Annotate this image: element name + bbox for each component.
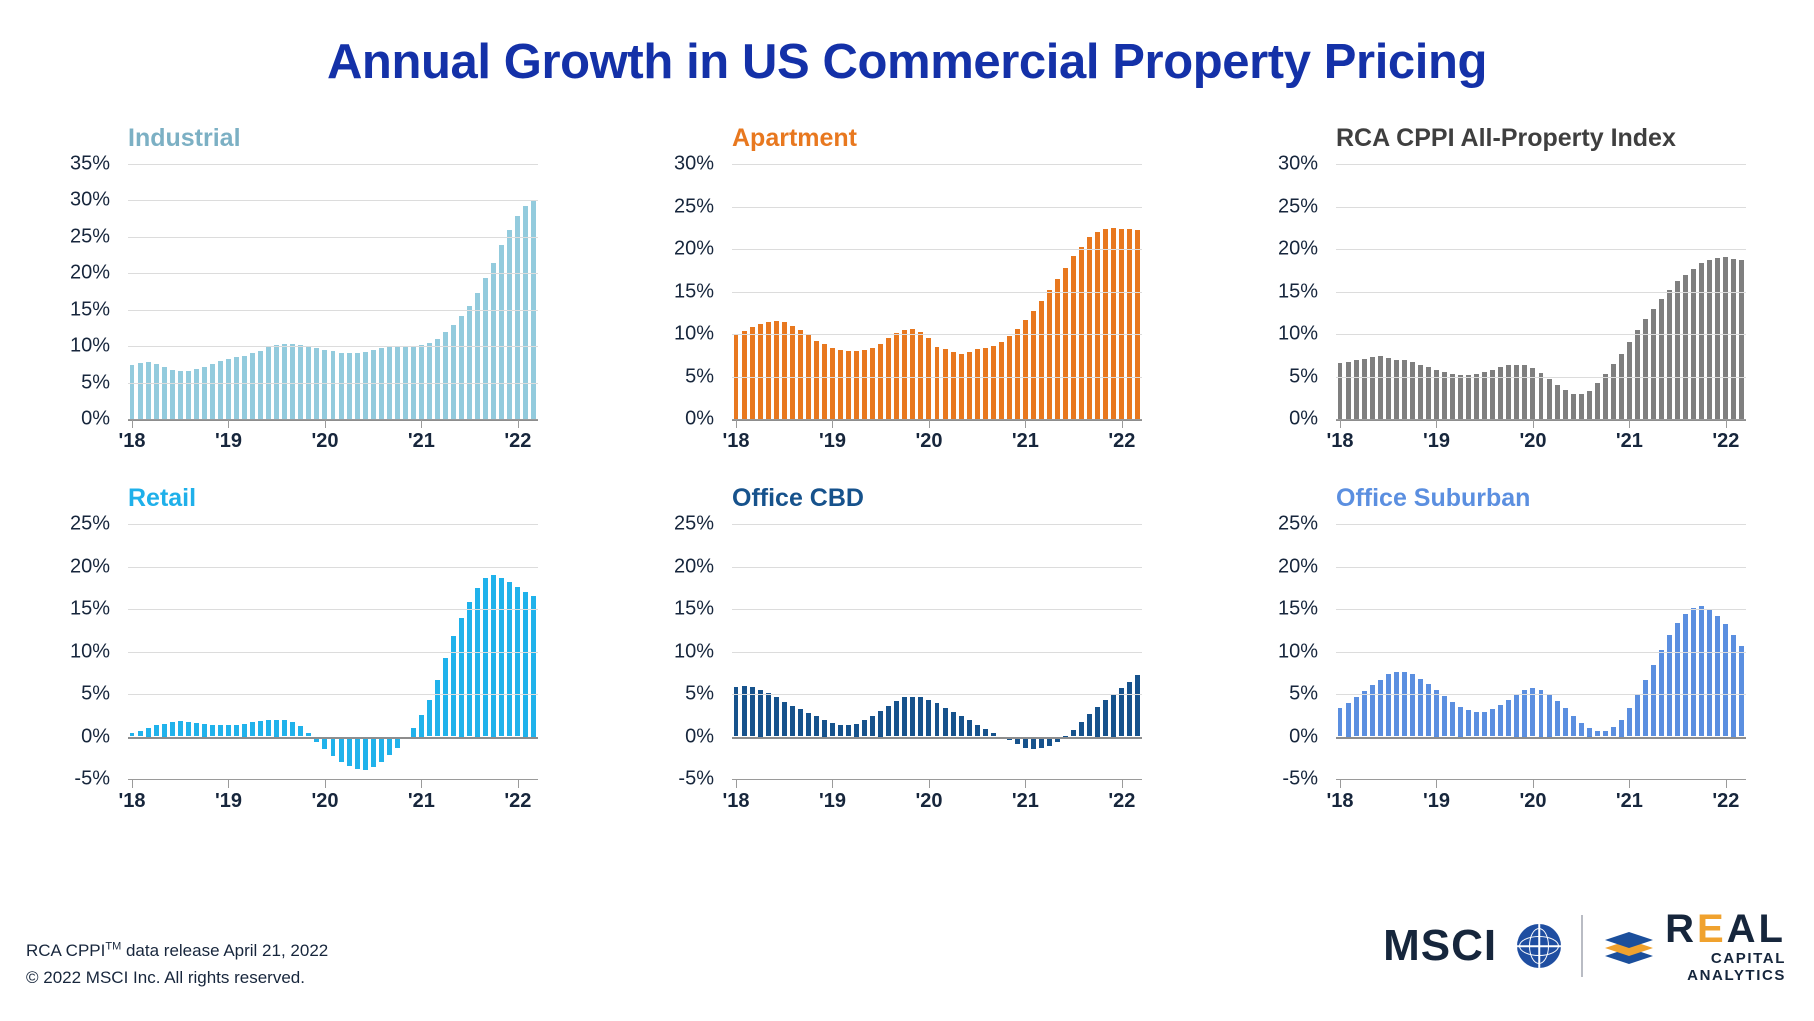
bar <box>926 700 931 737</box>
bar <box>758 324 763 419</box>
bar <box>910 697 915 737</box>
bar <box>355 737 360 769</box>
bar <box>1063 268 1068 419</box>
bar <box>1715 258 1720 420</box>
bar <box>1675 281 1680 419</box>
bar <box>218 361 223 419</box>
bar <box>975 349 980 419</box>
bar <box>298 726 303 736</box>
y-axis-office-cbd: -5%0%5%10%15%20%25% <box>604 524 724 779</box>
bar <box>1603 374 1608 419</box>
bar <box>991 346 996 419</box>
bar <box>387 737 392 756</box>
bar <box>1346 703 1351 737</box>
x-axis-rca-cppi: '18'19'20'21'22 <box>1336 419 1746 453</box>
bar <box>806 713 811 737</box>
y-tick-label: -5% <box>1282 768 1318 791</box>
bar <box>1418 365 1423 419</box>
bar <box>1667 635 1672 736</box>
bar <box>507 230 512 419</box>
bar <box>258 351 263 419</box>
bar <box>491 263 496 419</box>
page-title: Annual Growth in US Commercial Property … <box>0 0 1814 87</box>
x-tick <box>1025 779 1026 788</box>
x-tick-label: '19 <box>215 790 242 813</box>
bar <box>138 363 143 419</box>
bar <box>1103 700 1108 737</box>
bar <box>935 347 940 419</box>
x-tick-label: '18 <box>119 790 146 813</box>
x-axis-line <box>732 419 1142 420</box>
y-tick-label: 15% <box>1278 598 1318 621</box>
bar <box>1354 360 1359 419</box>
bar <box>1739 646 1744 736</box>
bar <box>1394 672 1399 737</box>
gridline-office-suburban-15 <box>1336 609 1746 610</box>
bar <box>427 700 432 737</box>
x-tick-label: '20 <box>311 790 338 813</box>
y-tick-label: 20% <box>70 262 110 285</box>
bar <box>250 353 255 419</box>
x-tick-label: '22 <box>504 790 531 813</box>
x-tick-label: '18 <box>723 430 750 453</box>
bar <box>523 592 528 737</box>
bar <box>1426 684 1431 737</box>
x-tick-label: '22 <box>1108 430 1135 453</box>
bar <box>1651 665 1656 736</box>
footer-line-1-pre: RCA CPPI <box>26 941 105 960</box>
bar <box>1522 690 1527 737</box>
gridline-rca-cppi-all-property-index-25 <box>1336 207 1746 208</box>
y-tick-label: 0% <box>685 408 714 431</box>
chart-panel-office-cbd: Office CBD -5%0%5%10%15%20%25% '18'19'20… <box>604 480 1208 840</box>
y-tick-label: 35% <box>70 153 110 176</box>
bar <box>1111 228 1116 419</box>
bar <box>322 350 327 419</box>
x-tick-label: '22 <box>1712 430 1739 453</box>
bar <box>1635 330 1640 419</box>
gridline-office-cbd-0 <box>732 737 1142 739</box>
x-tick-label: '19 <box>1423 790 1450 813</box>
plot-area-office-cbd <box>732 524 1142 779</box>
bar <box>146 362 151 419</box>
x-tick <box>421 779 422 788</box>
bar <box>1378 680 1383 737</box>
x-axis-line <box>128 779 538 780</box>
bar <box>1103 229 1108 419</box>
y-tick-label: 15% <box>674 598 714 621</box>
bar <box>242 356 247 419</box>
bar <box>1555 385 1560 419</box>
y-tick-label: 20% <box>70 555 110 578</box>
bar <box>1683 614 1688 736</box>
y-tick-label: 25% <box>70 225 110 248</box>
bar <box>443 658 448 736</box>
gridline-retail-25 <box>128 524 538 525</box>
charts-row-top: Industrial 0%5%10%15%20%25%30%35% '18'19… <box>0 120 1814 480</box>
y-tick-label: -5% <box>678 768 714 791</box>
x-tick-label: '21 <box>408 790 435 813</box>
bar <box>210 725 215 737</box>
bar <box>766 322 771 419</box>
gridline-office-cbd-5 <box>732 694 1142 695</box>
bar <box>967 720 972 736</box>
bar <box>814 341 819 419</box>
x-tick <box>1533 779 1534 788</box>
bar <box>234 725 239 737</box>
x-tick-label: '21 <box>1012 790 1039 813</box>
bar <box>1378 356 1383 419</box>
bar <box>1410 362 1415 419</box>
bar <box>467 306 472 419</box>
bar <box>1055 279 1060 419</box>
y-tick-label: 20% <box>674 238 714 261</box>
bar <box>250 722 255 736</box>
gridline-industrial-25 <box>128 237 538 238</box>
bar <box>515 216 520 419</box>
bar <box>1498 705 1503 736</box>
bar <box>194 369 199 419</box>
rca-logo: REAL CAPITAL ANALYTICS <box>1603 909 1786 983</box>
x-tick <box>929 419 930 428</box>
bar <box>1563 390 1568 419</box>
rca-real-text: REAL <box>1665 909 1786 949</box>
bar <box>1386 674 1391 736</box>
x-tick-label: '22 <box>1108 790 1135 813</box>
bar <box>178 371 183 419</box>
bar <box>282 720 287 736</box>
bar <box>790 326 795 420</box>
bar <box>1119 229 1124 419</box>
bar <box>1031 311 1036 419</box>
bar <box>459 618 464 737</box>
bar <box>507 582 512 737</box>
x-tick-label: '19 <box>819 430 846 453</box>
bar <box>234 357 239 419</box>
x-axis-apartment: '18'19'20'21'22 <box>732 419 1142 453</box>
chart-panel-rca-cppi-all-property-index: RCA CPPI All-Property Index 0%5%10%15%20… <box>1208 120 1812 480</box>
x-tick-label: '22 <box>1712 790 1739 813</box>
bar <box>926 338 931 419</box>
bar <box>154 364 159 419</box>
bar <box>830 723 835 737</box>
gridline-office-cbd-20 <box>732 567 1142 568</box>
bar <box>531 596 536 736</box>
chart-title-apartment: Apartment <box>732 124 857 153</box>
bar <box>1514 694 1519 737</box>
x-axis-line <box>732 779 1142 780</box>
y-tick-label: 20% <box>674 555 714 578</box>
bar <box>1071 730 1076 737</box>
y-axis-industrial: 0%5%10%15%20%25%30%35% <box>0 164 120 419</box>
bar <box>1402 360 1407 419</box>
bar <box>1338 363 1343 419</box>
y-tick-label: 5% <box>81 371 110 394</box>
bar <box>878 711 883 737</box>
y-tick-label: 0% <box>1289 408 1318 431</box>
x-tick-label: '20 <box>1519 430 1546 453</box>
gridline-industrial-15 <box>128 310 538 311</box>
x-tick <box>832 779 833 788</box>
x-tick-label: '19 <box>1423 430 1450 453</box>
bar <box>1619 720 1624 737</box>
bar <box>910 329 915 419</box>
bar <box>862 350 867 419</box>
bar <box>983 348 988 419</box>
bar <box>1675 623 1680 736</box>
bar <box>226 359 231 419</box>
bar <box>242 724 247 737</box>
bar <box>1571 716 1576 736</box>
y-tick-label: 15% <box>70 598 110 621</box>
bar <box>1370 357 1375 419</box>
chart-panel-apartment: Apartment 0%5%10%15%20%25%30% '18'19'20'… <box>604 120 1208 480</box>
bar <box>846 725 851 736</box>
bar <box>902 697 907 736</box>
x-tick-label: '20 <box>1519 790 1546 813</box>
bar <box>1683 275 1688 420</box>
bar <box>766 693 771 736</box>
bar <box>935 703 940 736</box>
chart-panel-industrial: Industrial 0%5%10%15%20%25%30%35% '18'19… <box>0 120 604 480</box>
x-tick <box>1726 779 1727 788</box>
y-axis-office-suburban: -5%0%5%10%15%20%25% <box>1208 524 1328 779</box>
bar <box>1739 260 1744 419</box>
bar <box>1619 354 1624 419</box>
bar <box>902 330 907 419</box>
bar <box>798 330 803 419</box>
bar <box>1651 309 1656 420</box>
bar <box>814 716 819 736</box>
bar <box>1691 608 1696 736</box>
x-tick-label: '22 <box>504 430 531 453</box>
y-tick-label: 30% <box>674 153 714 176</box>
bar <box>186 722 191 736</box>
bar <box>878 344 883 419</box>
bar <box>1087 714 1092 736</box>
bar <box>1699 606 1704 736</box>
globe-ring-icon <box>1529 928 1549 964</box>
bar <box>1095 232 1100 419</box>
bar <box>154 725 159 736</box>
bar <box>1127 229 1132 419</box>
bar <box>379 348 384 419</box>
x-tick-label: '20 <box>311 430 338 453</box>
bar <box>870 716 875 736</box>
bar <box>758 690 763 737</box>
x-tick <box>518 779 519 788</box>
bar <box>1587 728 1592 737</box>
bar <box>1127 682 1132 736</box>
bar <box>282 344 287 419</box>
book-icon <box>1603 926 1655 966</box>
x-tick-label: '21 <box>408 430 435 453</box>
bar <box>1474 374 1479 419</box>
bar <box>1338 708 1343 737</box>
bar <box>951 712 956 737</box>
bar <box>782 702 787 737</box>
gridline-rca-cppi-all-property-index-30 <box>1336 164 1746 165</box>
bar <box>178 721 183 736</box>
bar <box>331 351 336 419</box>
y-axis-rca-cppi: 0%5%10%15%20%25%30% <box>1208 164 1328 419</box>
bar <box>774 697 779 736</box>
bar <box>1579 394 1584 419</box>
x-tick-label: '19 <box>215 430 242 453</box>
logo-divider <box>1581 915 1583 977</box>
bar <box>1354 697 1359 737</box>
bar <box>467 602 472 736</box>
bar <box>1731 259 1736 419</box>
y-tick-label: 10% <box>1278 640 1318 663</box>
bar <box>290 344 295 419</box>
x-tick <box>1629 419 1630 428</box>
bar <box>1659 299 1664 419</box>
x-tick-label: '18 <box>723 790 750 813</box>
bar <box>1015 329 1020 419</box>
bar <box>1095 707 1100 737</box>
bar <box>1087 237 1092 419</box>
bar <box>210 364 215 419</box>
bar <box>1522 365 1527 419</box>
gridline-retail-15 <box>128 609 538 610</box>
bar <box>1490 709 1495 736</box>
bar <box>1707 260 1712 419</box>
gridline-retail-10 <box>128 652 538 653</box>
bar <box>266 720 271 736</box>
x-tick-label: '18 <box>119 430 146 453</box>
bar <box>475 293 480 419</box>
gridline-office-cbd-15 <box>732 609 1142 610</box>
bar <box>1547 694 1552 737</box>
chart-title-retail: Retail <box>128 484 196 513</box>
bar <box>1579 723 1584 737</box>
y-tick-label: 15% <box>70 298 110 321</box>
bar <box>1563 708 1568 736</box>
bar <box>371 737 376 768</box>
gridline-apartment-5 <box>732 377 1142 378</box>
gridline-apartment-10 <box>732 334 1142 335</box>
bar <box>1506 700 1511 737</box>
y-tick-label: -5% <box>74 768 110 791</box>
footer-note: RCA CPPITM data release April 21, 2022 ©… <box>26 938 328 991</box>
y-axis-retail: -5%0%5%10%15%20%25% <box>0 524 120 779</box>
y-tick-label: 10% <box>674 640 714 663</box>
bar <box>1530 688 1535 736</box>
gridline-industrial-5 <box>128 383 538 384</box>
x-tick <box>1340 779 1341 788</box>
bar <box>1450 374 1455 419</box>
x-tick <box>1122 779 1123 788</box>
x-tick <box>421 419 422 428</box>
bar <box>1506 365 1511 419</box>
y-tick-label: 25% <box>1278 513 1318 536</box>
bar <box>1474 712 1479 737</box>
x-tick <box>132 419 133 428</box>
bar <box>314 348 319 419</box>
bar <box>355 353 360 419</box>
bar <box>1458 707 1463 737</box>
bar <box>419 715 424 736</box>
bar <box>1442 696 1447 737</box>
x-tick-label: '19 <box>819 790 846 813</box>
y-tick-label: 5% <box>81 683 110 706</box>
msci-wordmark: MSCI <box>1383 921 1497 971</box>
y-tick-label: 25% <box>1278 195 1318 218</box>
bar <box>1111 694 1116 737</box>
gridline-rca-cppi-all-property-index-20 <box>1336 249 1746 250</box>
bar <box>830 348 835 419</box>
bar <box>1023 320 1028 419</box>
x-tick <box>1436 419 1437 428</box>
bar <box>959 716 964 736</box>
x-tick-label: '18 <box>1327 790 1354 813</box>
y-tick-label: 10% <box>1278 323 1318 346</box>
bar <box>459 316 464 419</box>
bar <box>846 351 851 419</box>
bar <box>1482 712 1487 737</box>
y-tick-label: 25% <box>70 513 110 536</box>
bar <box>742 331 747 419</box>
x-tick-label: '20 <box>915 790 942 813</box>
bar <box>1047 290 1052 419</box>
bar <box>339 353 344 419</box>
bar <box>347 353 352 419</box>
y-axis-apartment: 0%5%10%15%20%25%30% <box>604 164 724 419</box>
bar <box>854 724 859 737</box>
bar <box>943 708 948 737</box>
bar <box>499 578 504 737</box>
bar <box>363 352 368 419</box>
gridline-apartment-30 <box>732 164 1142 165</box>
bar <box>854 351 859 419</box>
bar <box>918 697 923 736</box>
bar <box>202 724 207 737</box>
bar <box>1458 375 1463 419</box>
x-axis-industrial: '18'19'20'21'22 <box>128 419 538 453</box>
bar <box>1466 710 1471 736</box>
gridline-office-suburban-25 <box>1336 524 1746 525</box>
y-tick-label: 30% <box>1278 153 1318 176</box>
bar <box>1402 672 1407 737</box>
bar <box>290 722 295 736</box>
bar <box>186 371 191 419</box>
bar <box>1731 635 1736 737</box>
bar <box>162 724 167 737</box>
gridline-apartment-20 <box>732 249 1142 250</box>
x-axis-line <box>128 419 538 420</box>
bar <box>838 350 843 419</box>
chart-title-office-cbd: Office CBD <box>732 484 864 513</box>
bar <box>331 737 336 757</box>
bar <box>339 737 344 763</box>
chart-panel-office-suburban: Office Suburban -5%0%5%10%15%20%25% '18'… <box>1208 480 1812 840</box>
bar <box>1071 256 1076 419</box>
bar <box>411 728 416 737</box>
bar <box>274 720 279 737</box>
bar <box>1539 373 1544 419</box>
gridline-retail-5 <box>128 694 538 695</box>
bar <box>1119 688 1124 736</box>
x-tick <box>1533 419 1534 428</box>
bar <box>491 575 496 737</box>
gridline-industrial-10 <box>128 346 538 347</box>
y-tick-label: 25% <box>674 195 714 218</box>
bar <box>1723 624 1728 736</box>
bar <box>1466 375 1471 419</box>
bar <box>1539 690 1544 737</box>
bar <box>363 737 368 770</box>
